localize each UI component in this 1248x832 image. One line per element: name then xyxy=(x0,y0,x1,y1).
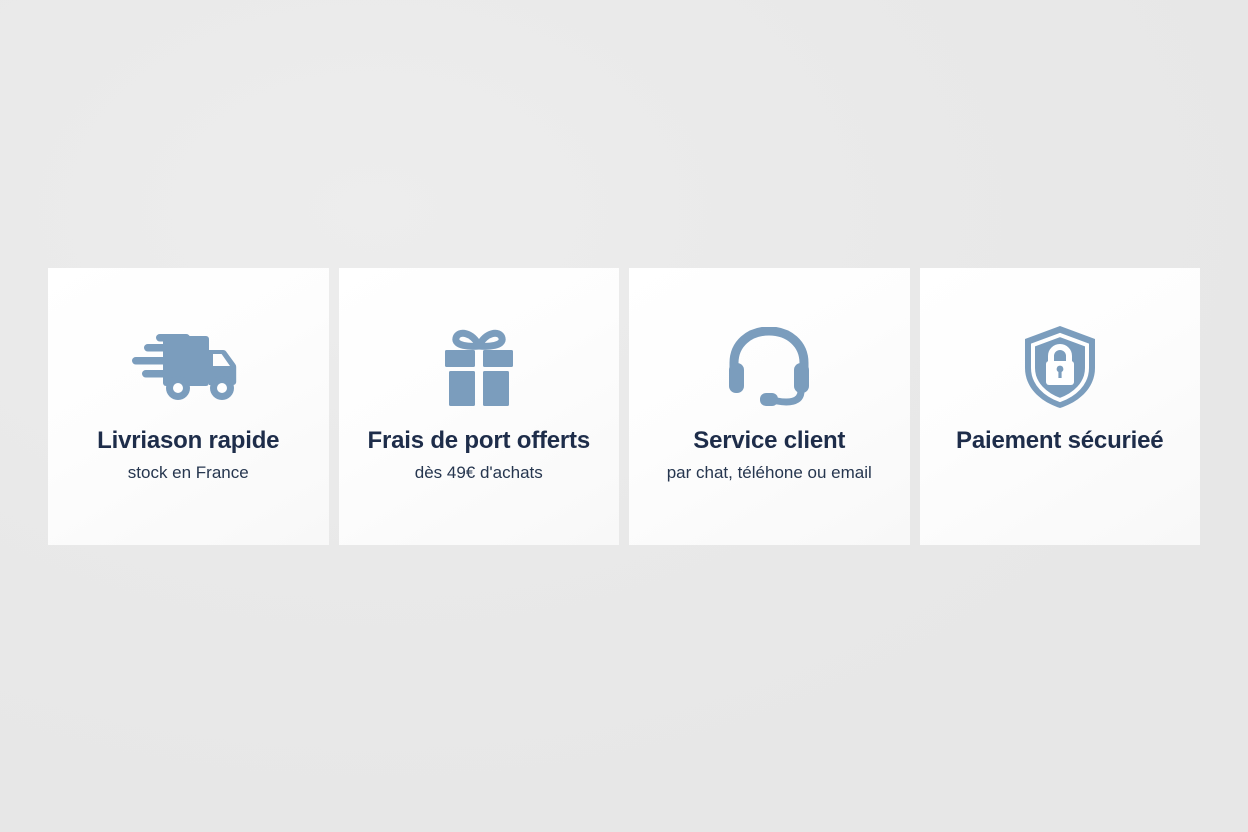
delivery-truck-icon xyxy=(130,314,246,420)
feature-title: Service client xyxy=(693,428,845,454)
feature-subtitle: par chat, téléhone ou email xyxy=(667,463,872,483)
feature-title: Livriason rapide xyxy=(97,428,279,454)
feature-subtitle: stock en France xyxy=(128,463,249,483)
feature-subtitle: dès 49€ d'achats xyxy=(415,463,543,483)
feature-card-secure-payment[interactable]: Paiement sécurieé xyxy=(920,268,1201,545)
headset-support-icon xyxy=(727,314,811,420)
feature-card-customer-service[interactable]: Service client par chat, téléhone ou ema… xyxy=(629,268,910,545)
feature-title: Frais de port offerts xyxy=(368,428,591,454)
features-strip: Livriason rapide stock en France xyxy=(48,268,1200,545)
shield-lock-icon xyxy=(1022,314,1098,420)
feature-card-free-shipping[interactable]: Frais de port offerts dès 49€ d'achats xyxy=(339,268,620,545)
gift-box-icon xyxy=(440,314,518,420)
feature-card-delivery[interactable]: Livriason rapide stock en France xyxy=(48,268,329,545)
feature-title: Paiement sécurieé xyxy=(956,428,1163,454)
page-root: Livriason rapide stock en France xyxy=(0,0,1248,832)
